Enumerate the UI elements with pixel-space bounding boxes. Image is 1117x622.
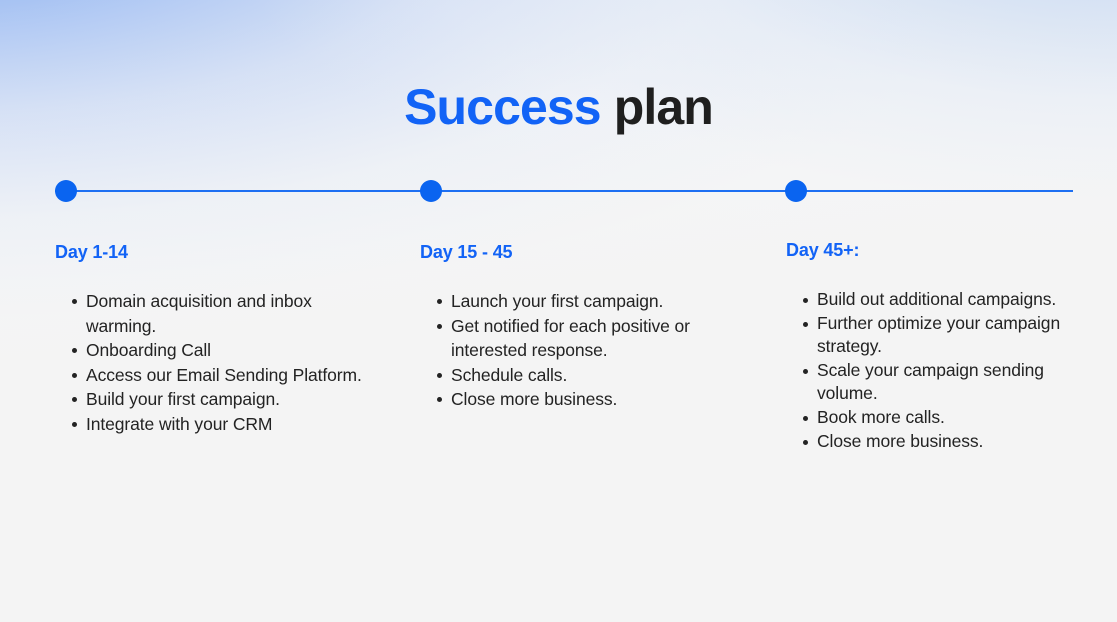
- list-item: Domain acquisition and inbox warming.: [55, 289, 385, 338]
- page-title: Success plan: [0, 76, 1117, 138]
- timeline-rail: [55, 190, 1073, 192]
- list-item: Further optimize your campaign strategy.: [786, 312, 1106, 359]
- list-item: Scale your campaign sending volume.: [786, 359, 1106, 406]
- phase-column-3: Day 45+: Build out additional campaigns.…: [786, 240, 1106, 453]
- phase-column-1: Day 1-14 Domain acquisition and inbox wa…: [55, 240, 385, 437]
- phase-list-3: Build out additional campaigns. Further …: [786, 288, 1106, 453]
- list-item: Launch your first campaign.: [420, 289, 730, 314]
- phase-heading-3: Day 45+:: [786, 238, 1106, 262]
- list-item: Get notified for each positive or intere…: [420, 314, 730, 363]
- list-item: Access our Email Sending Platform.: [55, 363, 385, 388]
- timeline-node-3[interactable]: [785, 180, 807, 202]
- timeline-node-1[interactable]: [55, 180, 77, 202]
- list-item: Onboarding Call: [55, 338, 385, 363]
- phase-heading-2: Day 15 - 45: [420, 240, 730, 264]
- page-title-accent: Success: [404, 79, 601, 135]
- list-item: Integrate with your CRM: [55, 412, 385, 437]
- page-title-plain: plan: [601, 79, 713, 135]
- timeline: [55, 190, 1073, 192]
- list-item: Build your first campaign.: [55, 387, 385, 412]
- phase-list-2: Launch your first campaign. Get notified…: [420, 289, 730, 412]
- list-item: Schedule calls.: [420, 363, 730, 388]
- slide-stage: Success plan Day 1-14 Domain acquisition…: [0, 0, 1117, 622]
- list-item: Book more calls.: [786, 406, 1106, 430]
- phase-heading-1: Day 1-14: [55, 240, 385, 264]
- timeline-node-2[interactable]: [420, 180, 442, 202]
- phase-list-1: Domain acquisition and inbox warming. On…: [55, 289, 385, 437]
- list-item: Close more business.: [420, 387, 730, 412]
- list-item: Close more business.: [786, 430, 1106, 454]
- phase-column-2: Day 15 - 45 Launch your first campaign. …: [420, 240, 730, 412]
- list-item: Build out additional campaigns.: [786, 288, 1106, 312]
